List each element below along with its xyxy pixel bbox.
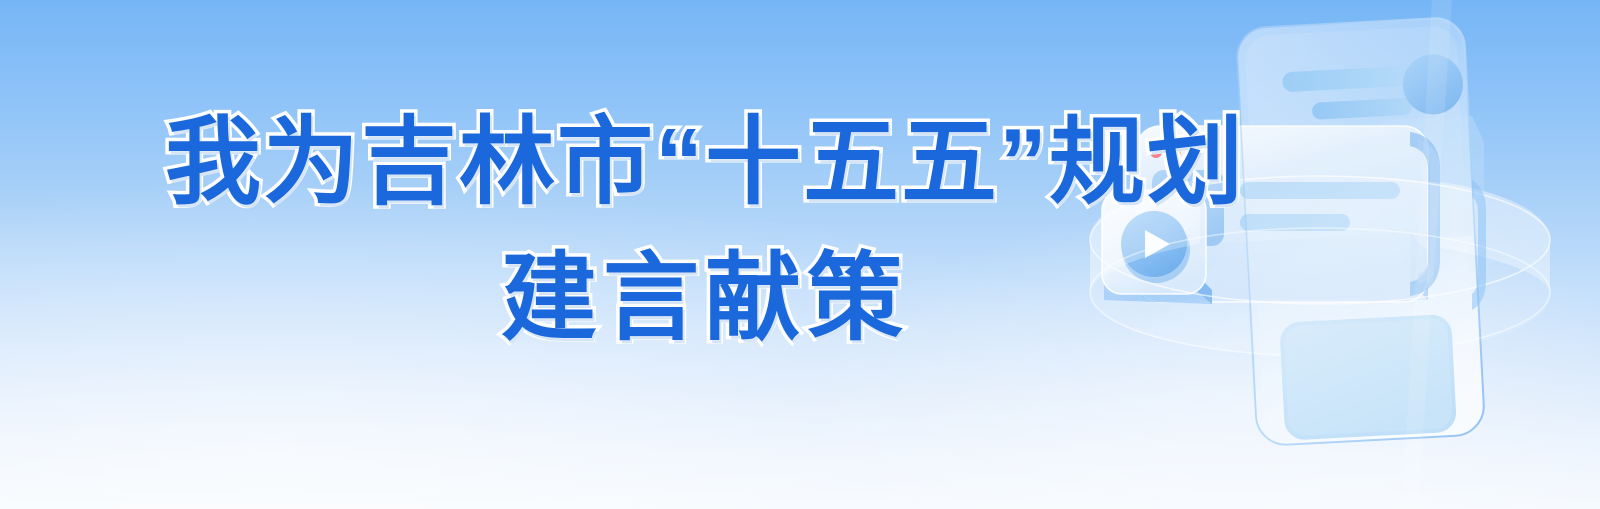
headline-line-2: 建言献策 (0, 248, 1410, 350)
banner-root: 我为吉林市“十五五”规划 建言献策 (0, 0, 1600, 509)
headline-block: 我为吉林市“十五五”规划 建言献策 (0, 112, 1410, 350)
headline-line-1: 我为吉林市“十五五”规划 (0, 112, 1410, 214)
